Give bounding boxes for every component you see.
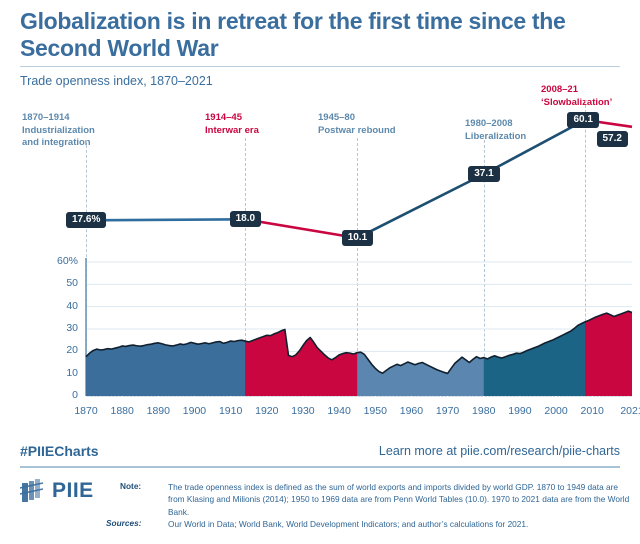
x-tick-label: 1910 (219, 405, 242, 417)
value-marker-1914: 18.0 (230, 211, 261, 227)
x-tick-label: 1920 (255, 405, 278, 417)
x-tick-label: 1970 (436, 405, 459, 417)
y-tick-label: 50 (38, 277, 78, 289)
x-tick-label: 1940 (327, 405, 350, 417)
x-tick-label: 1950 (364, 405, 387, 417)
note-label: Note: (120, 481, 141, 491)
value-marker-1870: 17.6% (66, 212, 106, 228)
x-tick-label: 1890 (147, 405, 170, 417)
x-tick-label: 1990 (508, 405, 531, 417)
x-tick-label: 1930 (291, 405, 314, 417)
y-tick-label: 60% (38, 255, 78, 267)
trade-openness-area-chart: 0102030405060% 1870188018901900191019201… (0, 250, 640, 425)
sources-label: Sources: (106, 518, 142, 528)
y-tick-label: 30 (38, 322, 78, 334)
learn-more-link[interactable]: Learn more at piie.com/research/piie-cha… (379, 444, 620, 458)
x-tick-label: 1900 (183, 405, 206, 417)
y-tick-label: 0 (38, 389, 78, 401)
x-tick-label: 2021 (620, 405, 640, 417)
piie-logo-icon (20, 477, 50, 507)
x-tick-label: 1960 (400, 405, 423, 417)
chart-canvas (0, 250, 640, 425)
piie-logo-text: PIIE (52, 479, 94, 503)
x-tick-label: 1980 (472, 405, 495, 417)
y-tick-label: 40 (38, 300, 78, 312)
x-tick-label: 1880 (110, 405, 133, 417)
y-tick-label: 10 (38, 367, 78, 379)
value-marker-1945: 10.1 (342, 230, 373, 246)
x-tick-label: 2010 (581, 405, 604, 417)
hashtag: #PIIECharts (20, 443, 99, 459)
value-marker-2021: 57.2 (597, 131, 628, 147)
y-tick-label: 20 (38, 344, 78, 356)
x-tick-label: 2000 (544, 405, 567, 417)
piie-chart-page: Globalization is in retreat for the firs… (0, 0, 640, 544)
era-trend-line (0, 0, 640, 280)
footer-divider (20, 466, 620, 468)
value-marker-1980: 37.1 (468, 166, 499, 182)
value-marker-2008: 60.1 (567, 112, 598, 128)
x-tick-label: 1870 (74, 405, 97, 417)
note-body: The trade openness index is defined as t… (168, 481, 630, 518)
sources-body: Our World in Data; World Bank, World Dev… (168, 518, 630, 530)
